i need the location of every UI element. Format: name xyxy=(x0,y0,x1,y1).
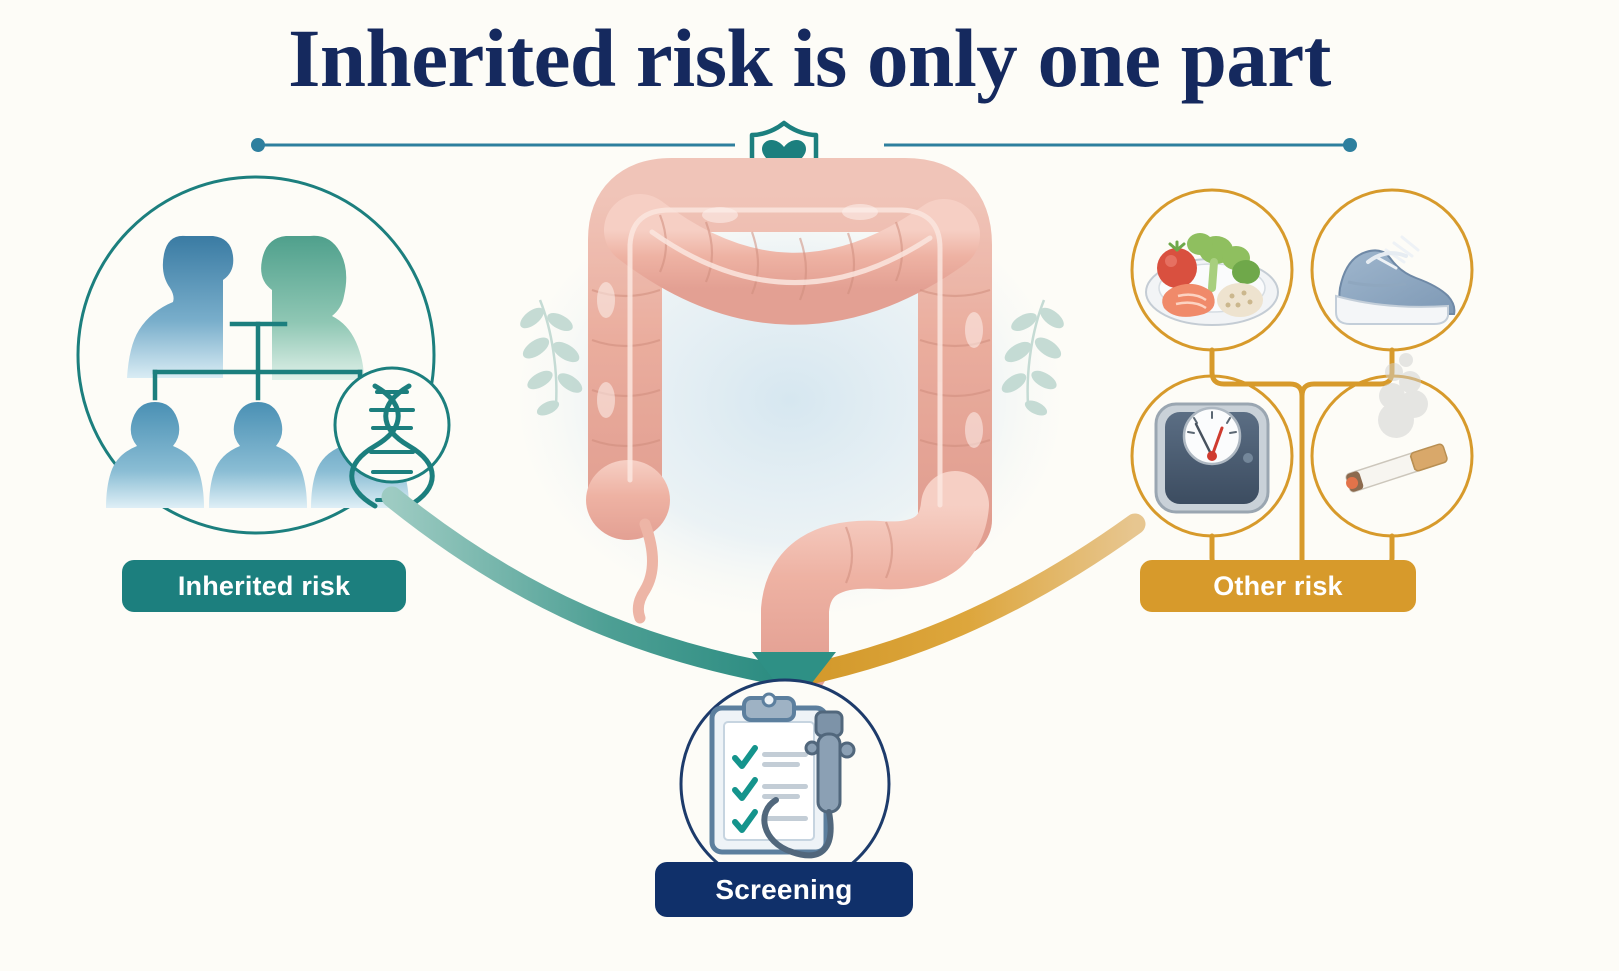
clipboard-icon xyxy=(712,694,826,852)
illustration-layer xyxy=(0,0,1619,971)
bathroom-scale-icon xyxy=(1156,404,1268,512)
screening-label[interactable]: Screening xyxy=(655,862,913,917)
inherited-risk-label[interactable]: Inherited risk xyxy=(122,560,406,612)
screening-group xyxy=(681,680,889,888)
screening-label-text: Screening xyxy=(715,876,852,904)
infographic-canvas: Inherited risk is only one part xyxy=(0,0,1619,971)
other-risk-label-text: Other risk xyxy=(1213,573,1343,600)
inherited-risk-label-text: Inherited risk xyxy=(178,573,350,600)
other-risk-label[interactable]: Other risk xyxy=(1140,560,1416,612)
